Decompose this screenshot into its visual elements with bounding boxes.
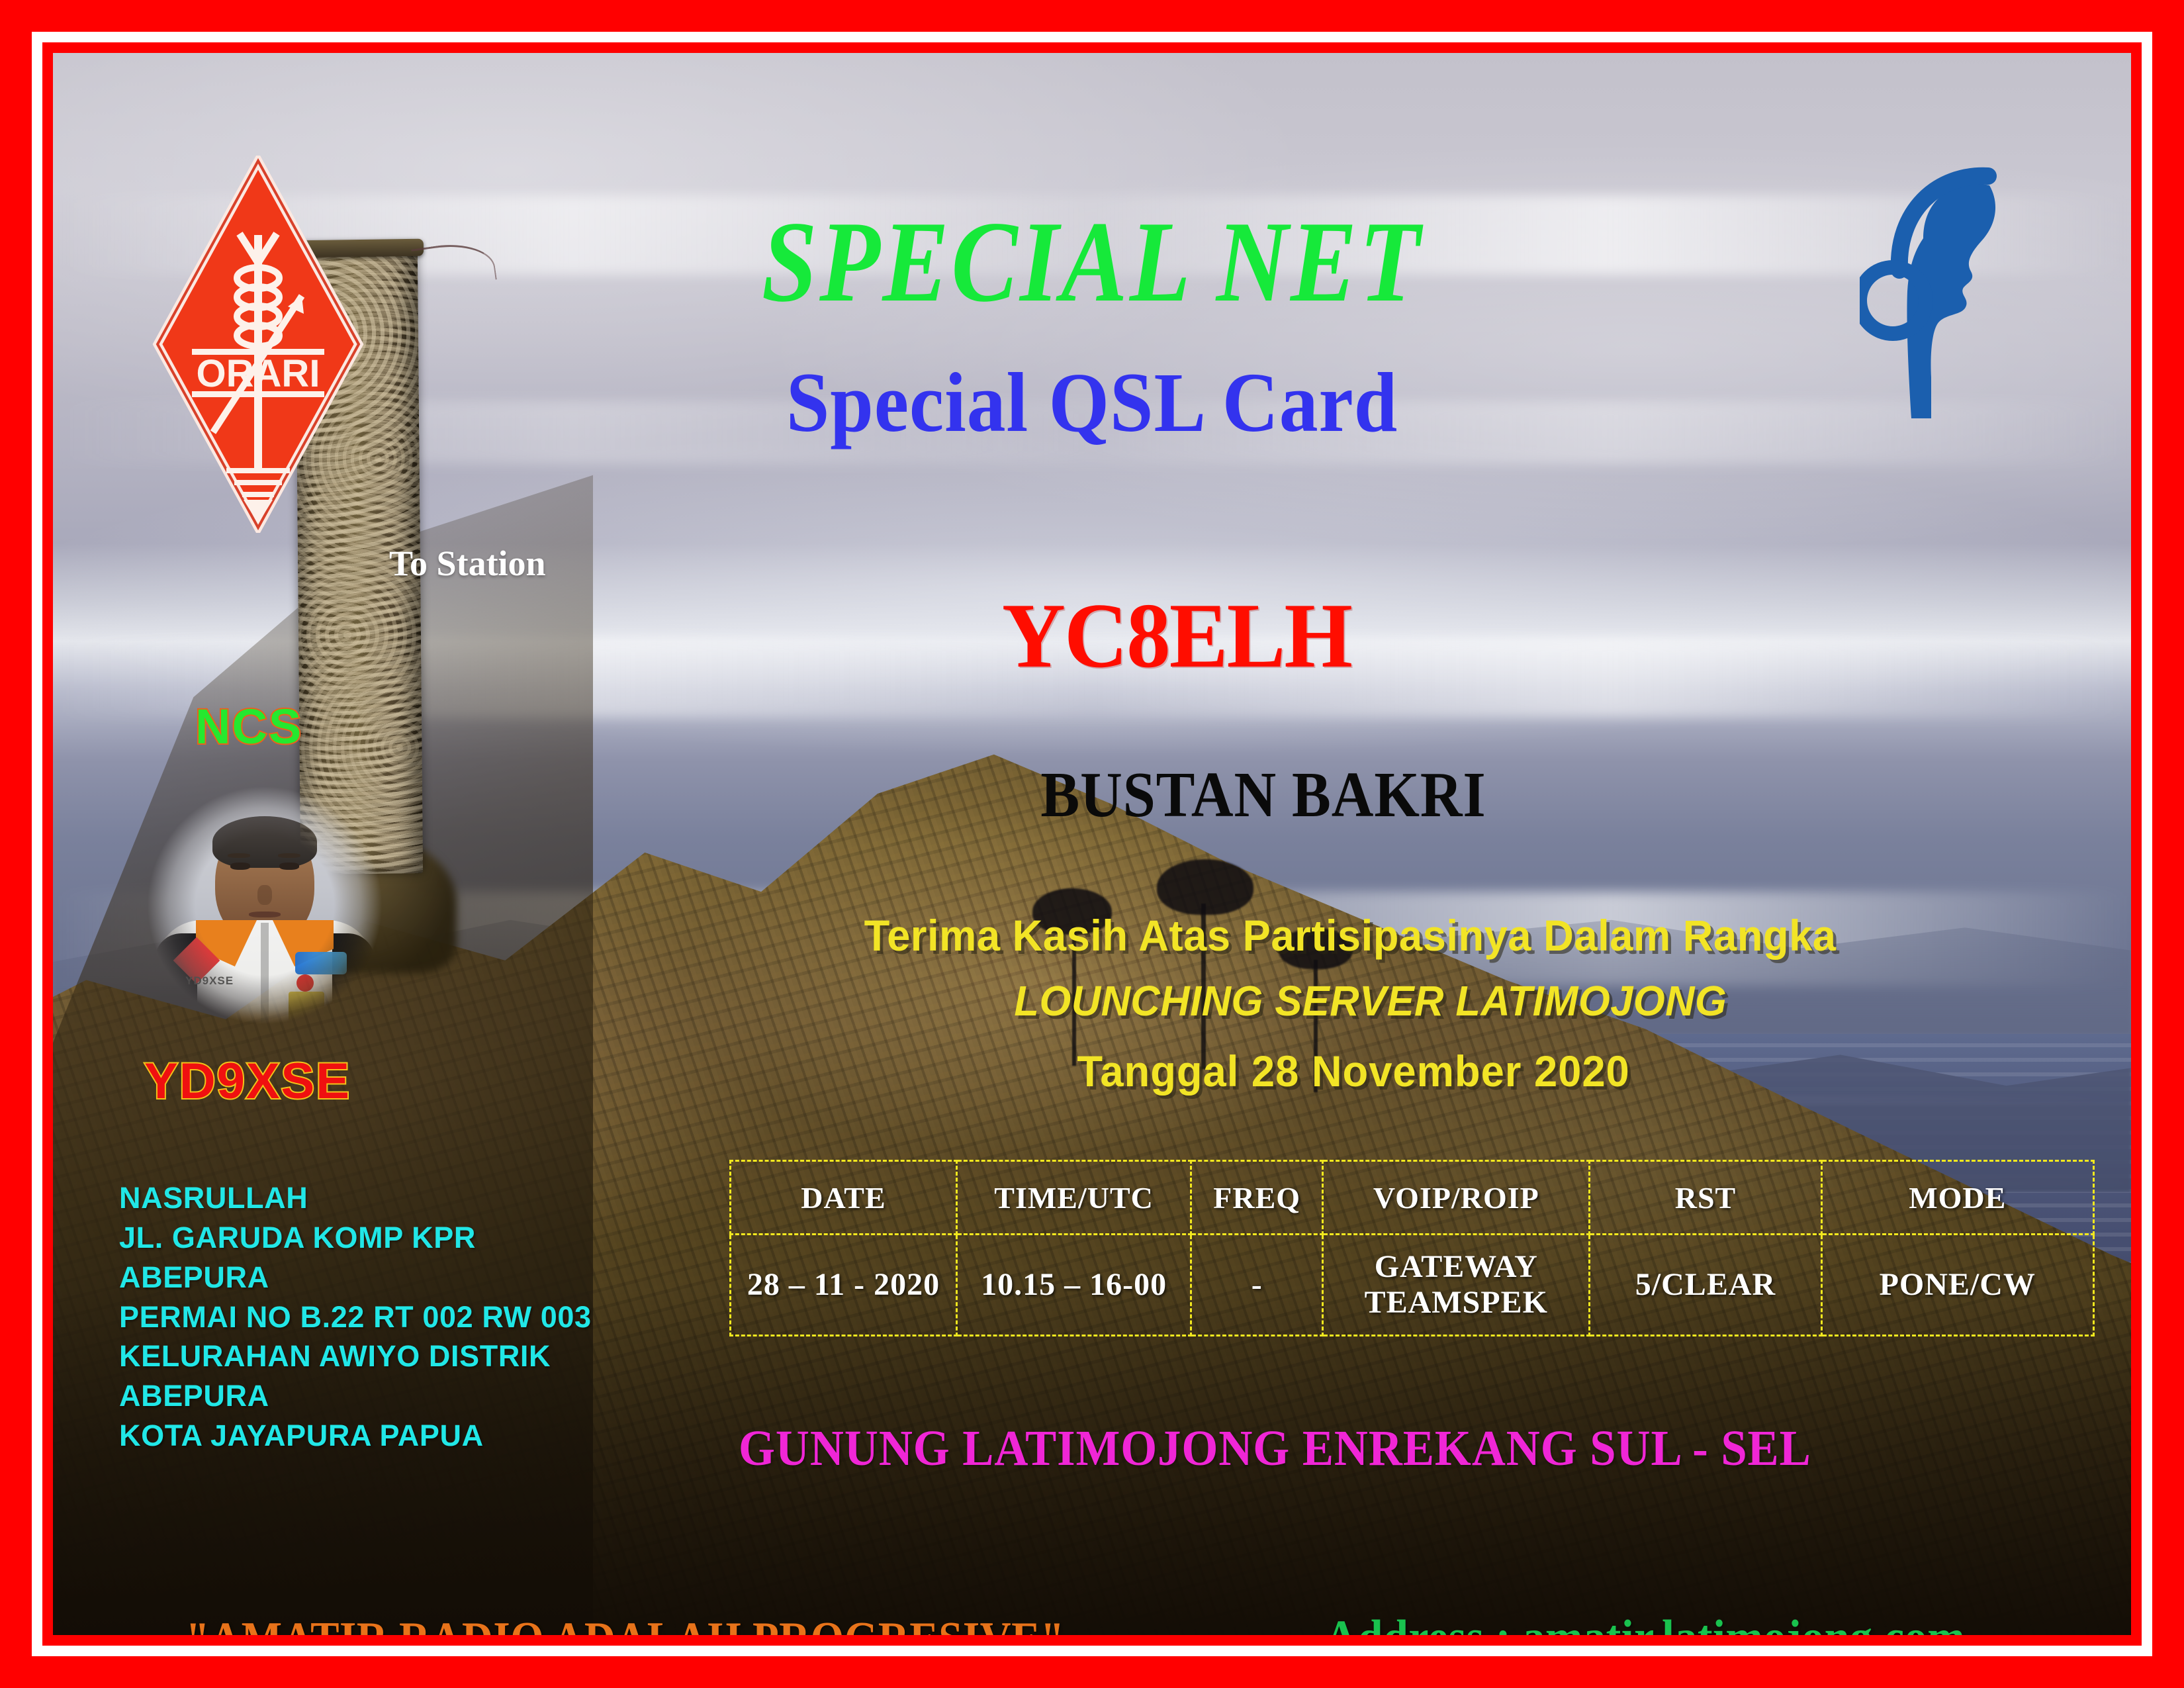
qso-log-table: DATE TIME/UTC FREQ VOIP/ROIP RST MODE 28… <box>729 1160 2095 1336</box>
address-line: NASRULLAH <box>119 1178 592 1218</box>
uniform-shoulder <box>332 933 375 1046</box>
portrait-eyebrow <box>228 853 250 858</box>
address-line: JL. GARUDA KOMP KPR <box>119 1218 592 1258</box>
qsl-card: ORARI <box>0 0 2184 1688</box>
address-line: ABEPURA <box>119 1376 592 1416</box>
table-row: 28 – 11 - 2020 10.15 – 16-00 - GATEWAY T… <box>731 1235 2094 1336</box>
cell-mode: PONE/CW <box>1821 1235 2093 1336</box>
table-header-row: DATE TIME/UTC FREQ VOIP/ROIP RST MODE <box>731 1161 2094 1235</box>
column-header-time: TIME/UTC <box>956 1161 1191 1235</box>
ncs-portrait-photo: YD9XSE <box>126 765 404 1046</box>
uniform-logo <box>295 952 347 974</box>
to-station-label: To Station <box>389 543 546 584</box>
cell-freq: - <box>1191 1235 1323 1336</box>
column-header-date: DATE <box>731 1161 957 1235</box>
portrait-eye <box>279 863 299 870</box>
event-date: Tanggal 28 November 2020 <box>1077 1046 1629 1096</box>
background-photo: ORARI <box>53 53 2131 1635</box>
uniform-placket <box>261 923 269 1029</box>
cell-time: 10.15 – 16-00 <box>956 1235 1191 1336</box>
ncs-label: NCS <box>195 698 302 755</box>
footer-web-address: Address : amatir.latimojong.com <box>1325 1610 1965 1635</box>
address-line: PERMAI NO B.22 RT 002 RW 003 <box>119 1297 592 1337</box>
address-line: KELURAHAN AWIYO DISTRIK <box>119 1336 592 1376</box>
column-header-freq: FREQ <box>1191 1161 1323 1235</box>
page-title: SPECIAL NET <box>199 195 1985 328</box>
uniform-callsign-text: YD9XSE <box>185 974 234 988</box>
event-name: LOUNCHING SERVER LATIMOJONG <box>1014 976 1727 1025</box>
ncs-callsign: YD9XSE <box>144 1053 351 1110</box>
address-line: KOTA JAYAPURA PAPUA <box>119 1416 592 1456</box>
footer-motto: "AMATIR RADIO ADALAH PROGRESIVE" <box>186 1612 1065 1635</box>
station-callsign: YC8ELH <box>1002 583 1351 689</box>
cell-voip: GATEWAY TEAMSPEK <box>1323 1235 1590 1336</box>
column-header-mode: MODE <box>1821 1161 2093 1235</box>
location-label: GUNUNG LATIMOJONG ENREKANG SUL - SEL <box>739 1420 1811 1477</box>
cell-voip-line1: GATEWAY <box>1324 1249 1588 1285</box>
address-line: ABEPURA <box>119 1258 592 1297</box>
portrait-hair <box>212 816 317 868</box>
uniform-badge-clip <box>296 974 314 992</box>
cell-voip-line2: TEAMSPEK <box>1324 1285 1588 1321</box>
column-header-voip: VOIP/ROIP <box>1323 1161 1590 1235</box>
cell-date: 28 – 11 - 2020 <box>731 1235 957 1336</box>
column-header-rst: RST <box>1590 1161 1821 1235</box>
uniform-id-badge <box>289 992 324 1022</box>
portrait-eyebrow <box>278 853 300 858</box>
address-block: NASRULLAH JL. GARUDA KOMP KPR ABEPURA PE… <box>119 1178 592 1456</box>
thanks-line: Terima Kasih Atas Partisipasinya Dalam R… <box>864 910 1837 961</box>
portrait-eye <box>230 863 250 870</box>
operator-name: BUSTAN BAKRI <box>1040 758 1486 832</box>
page-subtitle: Special QSL Card <box>136 354 2048 451</box>
cell-rst: 5/CLEAR <box>1590 1235 1821 1336</box>
portrait-nose <box>257 885 272 905</box>
portrait-mouth <box>249 912 281 917</box>
tree-canopy <box>1157 859 1253 915</box>
